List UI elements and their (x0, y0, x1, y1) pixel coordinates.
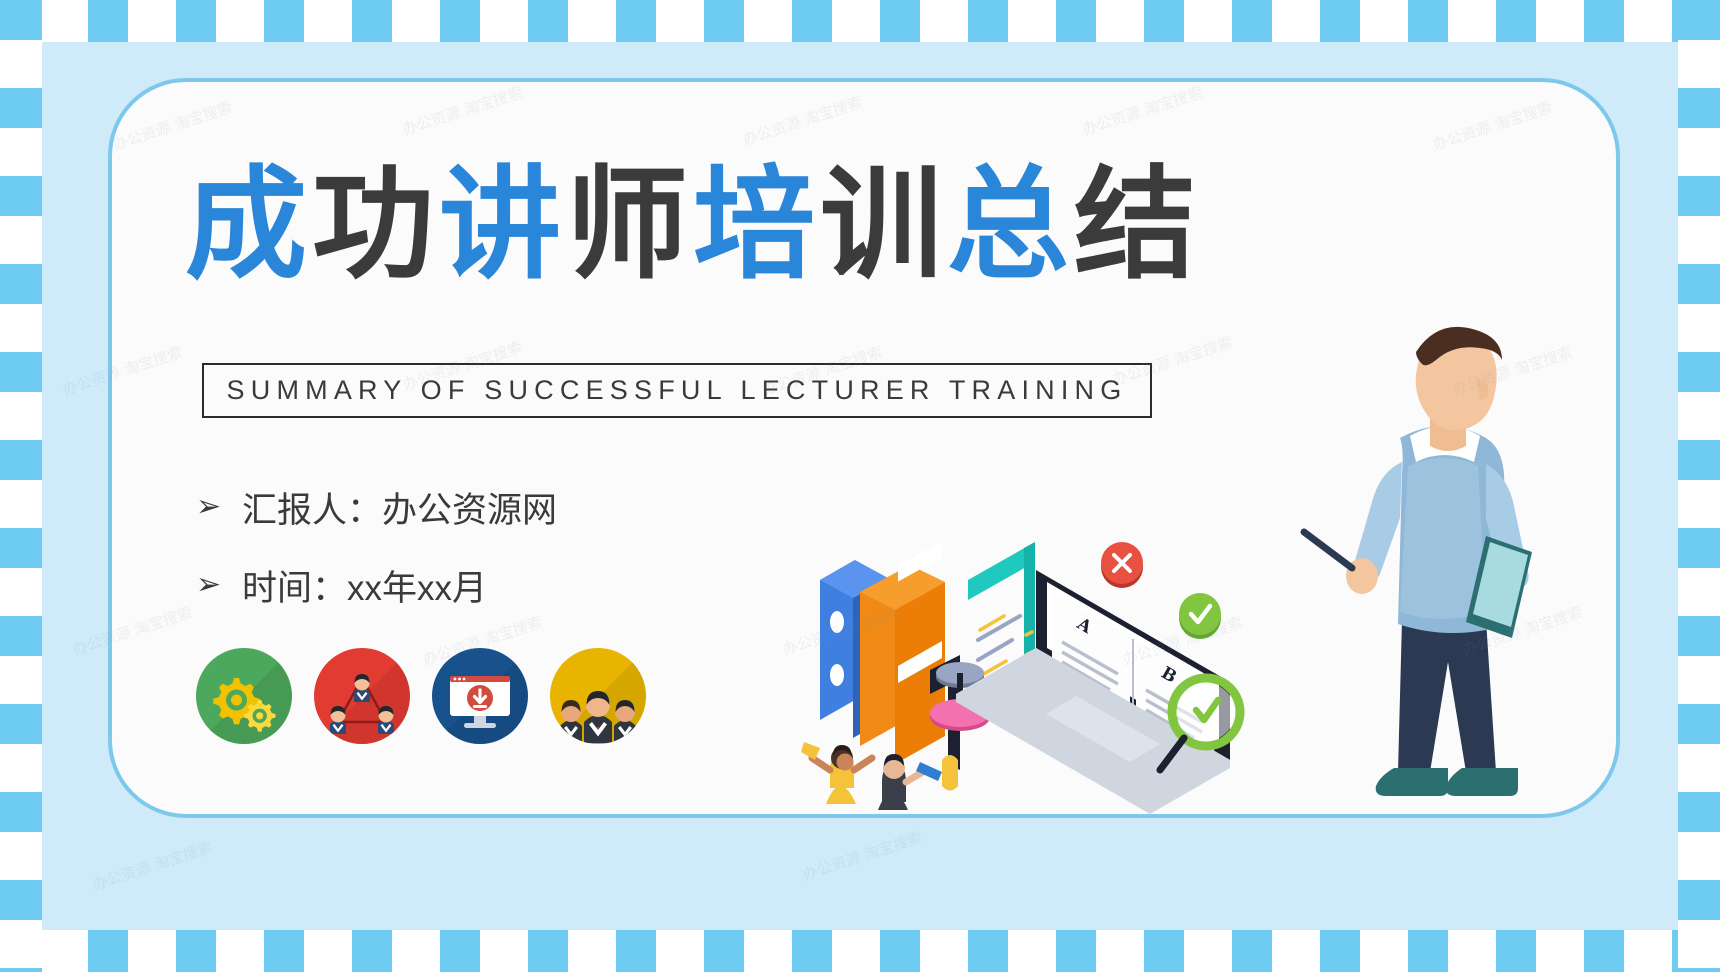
business-group-icon (550, 648, 646, 744)
list-item: ➢ 汇报人：办公资源网 (196, 468, 557, 546)
title-char-1: 功 (312, 157, 439, 293)
list-item-label: 汇报人：办公资源网 (242, 482, 557, 533)
presentation-slide: 办公资源 淘宝搜索 办公资源 淘宝搜索 办公资源 淘宝搜索 办公资源 淘宝搜索 … (0, 0, 1720, 972)
stripe-border-right (1678, 0, 1720, 972)
title-char-0: 成 (185, 157, 312, 293)
list-item: ➢ 时间：xx年xx月 (196, 546, 557, 624)
title-char-5: 训 (820, 157, 947, 293)
icon-row (196, 648, 646, 744)
title-char-6: 总 (947, 157, 1074, 293)
stripe-border-left (0, 0, 42, 972)
stripe-border-top (0, 0, 1720, 42)
subtitle-text: SUMMARY OF SUCCESSFUL LECTURER TRAINING (227, 375, 1128, 406)
stripe-border-bottom (0, 930, 1720, 972)
title-char-2: 讲 (439, 157, 566, 293)
meta-list: ➢ 汇报人：办公资源网 ➢ 时间：xx年xx月 (196, 468, 557, 624)
training-illustration: A B (800, 470, 1250, 820)
gears-icon (196, 648, 292, 744)
title-char-3: 师 (566, 157, 693, 293)
page-title: 成功讲师培训总结 (185, 158, 1201, 292)
presenter-illustration (1290, 290, 1590, 850)
subtitle-box: SUMMARY OF SUCCESSFUL LECTURER TRAINING (202, 363, 1152, 418)
arrow-bullet-icon: ➢ (196, 570, 242, 600)
title-char-7: 结 (1074, 157, 1201, 293)
title-char-4: 培 (693, 157, 820, 293)
arrow-bullet-icon: ➢ (196, 492, 242, 522)
list-item-label: 时间：xx年xx月 (242, 560, 487, 611)
team-network-icon (314, 648, 410, 744)
download-monitor-icon (432, 648, 528, 744)
